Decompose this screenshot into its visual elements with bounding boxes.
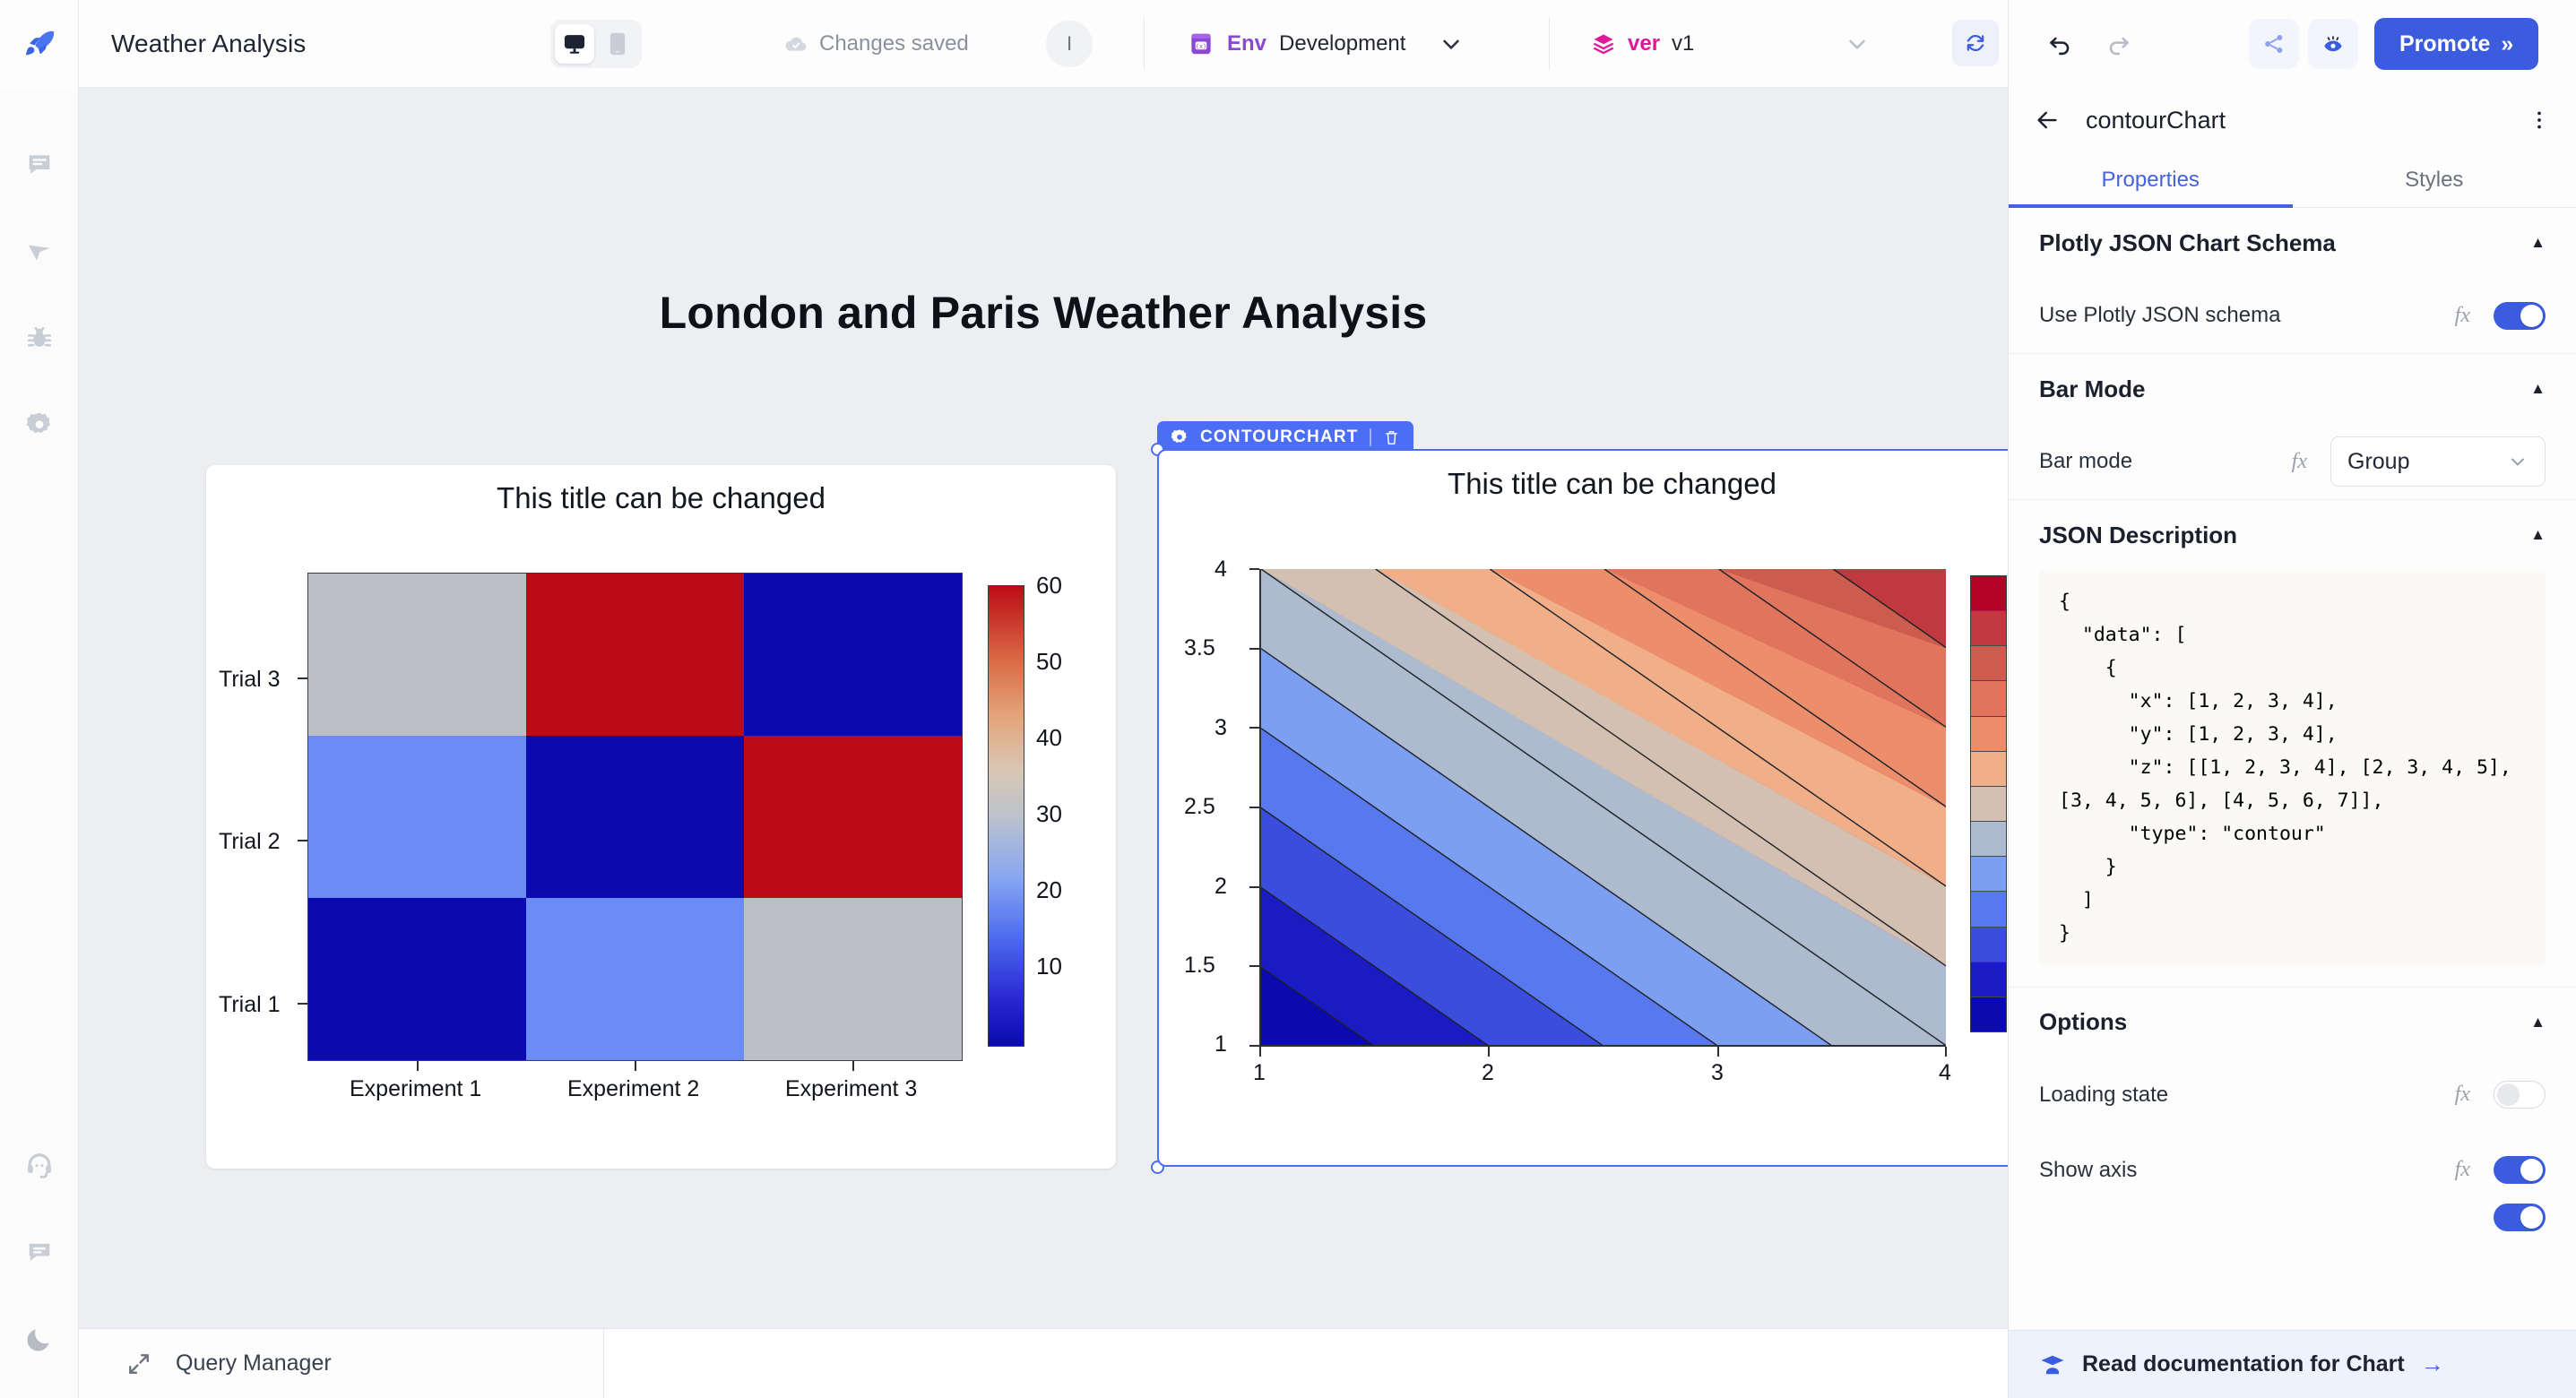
bottom-bar: Query Manager (79, 1328, 2008, 1398)
heatmap-xlabel: Experiment 1 (350, 1076, 481, 1102)
tab-properties-label: Properties (2102, 168, 2200, 193)
colorbar-band (1971, 997, 2006, 1031)
colorbar-band (1971, 752, 2006, 787)
gear-icon (1170, 427, 1189, 447)
section-title: Options (2039, 1008, 2127, 1036)
x-tick (1488, 1047, 1490, 1057)
inspector-panel: contourChart Properties Styles (2008, 88, 2576, 1398)
use-plotly-schema-toggle[interactable] (2494, 302, 2546, 330)
section-header[interactable]: Plotly JSON Chart Schema ▲ (2039, 208, 2546, 278)
y-tick (1249, 727, 1259, 729)
desktop-view-button[interactable] (555, 24, 594, 64)
rocket-icon (20, 24, 59, 64)
divider (1549, 18, 1550, 70)
version-label: ver (1628, 31, 1660, 56)
chevron-down-icon (2507, 451, 2528, 472)
env-label: Env (1227, 31, 1266, 56)
row-label: Loading state (2039, 1083, 2455, 1108)
colorbar-band (1971, 646, 2006, 681)
row-use-plotly-schema: Use Plotly JSON schema fx (2039, 278, 2546, 353)
query-manager-label: Query Manager (176, 1351, 332, 1376)
inspector-header: contourChart (2009, 88, 2576, 152)
colorbar-band (1971, 611, 2006, 646)
moon-icon (24, 1324, 55, 1354)
x-tick (1259, 1047, 1261, 1057)
heatmap-cell (744, 898, 962, 1060)
fx-button[interactable]: fx (2455, 1158, 2470, 1182)
env-variable-icon: (x) (1188, 30, 1215, 57)
colorbar-tick: 50 (1036, 648, 1062, 676)
version-value: v1 (1672, 31, 1694, 56)
desktop-icon (562, 31, 587, 56)
section-json-description: JSON Description ▲ { "data": [ { "x": [1… (2009, 500, 2576, 988)
inspector-content[interactable]: Plotly JSON Chart Schema ▲ Use Plotly JS… (2009, 208, 2576, 1398)
heatmap-cell (744, 574, 962, 736)
promote-label: Promote (2399, 31, 2490, 57)
page-title: London and Paris Weather Analysis (79, 287, 2008, 339)
section-title: JSON Description (2039, 522, 2237, 549)
heatmap-grid (307, 573, 963, 1061)
section-bar-mode: Bar Mode ▲ Bar mode fx Group (2009, 354, 2576, 500)
y-tick (1249, 568, 1259, 570)
query-manager-button[interactable]: Query Manager (79, 1329, 604, 1398)
chevron-up-icon[interactable]: ▲ (2530, 1014, 2546, 1031)
comment-icon (24, 149, 55, 179)
contour-xtick: 4 (1939, 1060, 1951, 1086)
undo-button[interactable] (2036, 20, 2084, 68)
badge-divider (1370, 428, 1371, 446)
left-rail-bottom (0, 1121, 79, 1382)
heatmap-colorbar (988, 585, 1024, 1047)
left-rail (0, 88, 79, 1398)
contour-ytick: 2.5 (1184, 794, 1215, 820)
refresh-icon (1963, 30, 1988, 56)
svg-text:(x): (x) (1196, 43, 1206, 50)
share-button[interactable] (2249, 19, 2299, 69)
redo-button[interactable] (2095, 20, 2143, 68)
contour-xtick: 2 (1482, 1060, 1494, 1086)
graduation-cap-icon (2039, 1351, 2066, 1378)
heatmap-cell (308, 898, 526, 1060)
contour-ytick: 1 (1215, 1031, 1227, 1057)
avatar-initial: I (1067, 32, 1072, 56)
contour-ytick: 2 (1215, 874, 1227, 900)
heatmap-xlabel: Experiment 3 (785, 1076, 917, 1102)
section-header[interactable]: Bar Mode ▲ (2039, 354, 2546, 424)
cloud-check-icon (783, 31, 808, 56)
row-loading-state: Loading state fx (2039, 1057, 2546, 1133)
trash-icon (1382, 428, 1401, 447)
heatmap-widget[interactable]: This title can be changed (206, 465, 1116, 1169)
promote-button[interactable]: Promote » (2374, 18, 2538, 70)
promote-chevrons: » (2501, 31, 2513, 57)
env-value: Development (1279, 31, 1405, 56)
row-label: Use Plotly JSON schema (2039, 303, 2455, 328)
refresh-button[interactable] (1952, 20, 1999, 66)
section-header[interactable]: JSON Description ▲ (2039, 500, 2546, 570)
contour-widget[interactable]: This title can be changed (1157, 449, 2008, 1167)
row-label: Show axis (2039, 1158, 2455, 1183)
section-title: Plotly JSON Chart Schema (2039, 229, 2336, 257)
arrow-right-icon: → (2421, 1351, 2444, 1378)
eye-icon (2321, 31, 2346, 56)
cursor-icon (24, 236, 55, 266)
heatmap-ylabel: Trial 1 (219, 992, 281, 1018)
inspector-tabs: Properties Styles (2009, 152, 2576, 208)
documentation-link[interactable]: Read documentation for Chart → (2009, 1330, 2576, 1398)
canvas-column: London and Paris Weather Analysis This t… (79, 88, 2008, 1398)
row-show-axis: Show axis fx (2039, 1133, 2546, 1208)
fx-button[interactable]: fx (2455, 304, 2470, 328)
divider (1144, 18, 1145, 70)
chevron-up-icon[interactable]: ▲ (2530, 526, 2546, 544)
colorbar-tick: 40 (1036, 724, 1062, 752)
y-tick (1249, 648, 1259, 650)
contour-colorbar (1970, 575, 2007, 1032)
bar-mode-value: Group (2347, 449, 2409, 475)
row-partial (2039, 1208, 2546, 1244)
tab-properties[interactable]: Properties (2009, 152, 2293, 207)
loading-state-toggle[interactable] (2494, 1081, 2546, 1109)
y-tick (1249, 1045, 1259, 1047)
contour-ytick: 3.5 (1184, 635, 1215, 661)
app-canvas[interactable]: London and Paris Weather Analysis This t… (79, 88, 2008, 1328)
sidebar-item-debug[interactable] (0, 294, 79, 381)
chevron-down-icon (1438, 30, 1465, 57)
version-selector[interactable]: ver v1 (1591, 0, 1694, 88)
editor-actions: Promote » (2008, 0, 2576, 88)
contour-xtick: 3 (1711, 1060, 1724, 1086)
colorbar-tick: 10 (1036, 953, 1062, 980)
heatmap-cell (526, 736, 744, 898)
top-bar: Weather Analysis Changes s (0, 0, 2576, 88)
sidebar-item-settings[interactable] (0, 381, 79, 468)
redo-icon (2105, 30, 2133, 58)
contour-region (1259, 569, 1946, 1047)
documentation-label: Read documentation for Chart (2082, 1351, 2405, 1377)
colorbar-band (1971, 892, 2006, 927)
share-icon (2261, 31, 2286, 56)
chevron-up-icon[interactable]: ▲ (2530, 380, 2546, 398)
show-axis-toggle[interactable] (2494, 1156, 2546, 1184)
bug-icon (24, 323, 55, 353)
fx-button[interactable]: fx (2292, 450, 2307, 474)
y-tick (1249, 965, 1259, 967)
section-plotly-schema: Plotly JSON Chart Schema ▲ Use Plotly JS… (2009, 208, 2576, 354)
chevron-up-icon[interactable]: ▲ (2530, 234, 2546, 252)
undo-icon (2045, 30, 2074, 58)
colorbar-band (1971, 717, 2006, 752)
heatmap-cell (526, 574, 744, 736)
x-tick (417, 1061, 419, 1071)
colorbar-tick: 20 (1036, 876, 1062, 904)
contour-xtick: 1 (1253, 1060, 1266, 1086)
app-logo[interactable] (0, 0, 79, 88)
component-name: contourChart (2086, 107, 2503, 134)
preview-button[interactable] (2308, 19, 2358, 69)
chat-bubble-icon (24, 1237, 55, 1267)
section-header[interactable]: Options ▲ (2039, 988, 2546, 1057)
contour-ytick: 1.5 (1184, 953, 1215, 979)
colorbar-band (1971, 822, 2006, 857)
device-toggle-group[interactable] (550, 20, 642, 68)
colorbar-tick: 60 (1036, 572, 1062, 600)
x-tick (1717, 1047, 1719, 1057)
contour-ytick: 4 (1215, 557, 1227, 582)
x-tick (852, 1061, 854, 1071)
contour-ytick: 3 (1215, 715, 1227, 741)
colorbar-band (1971, 787, 2006, 822)
avatar[interactable]: I (1046, 21, 1093, 67)
support-headset-icon (24, 1150, 55, 1180)
more-options-icon[interactable] (2528, 108, 2551, 132)
body: London and Paris Weather Analysis This t… (0, 88, 2576, 1398)
heatmap-cell (526, 898, 744, 1060)
colorbar-band (1971, 576, 2006, 611)
json-description-editor[interactable]: { "data": [ { "x": [1, 2, 3, 4], "y": [1… (2039, 570, 2546, 967)
heatmap-xlabel: Experiment 2 (567, 1076, 699, 1102)
bar-mode-select[interactable]: Group (2330, 436, 2546, 487)
sidebar-item-cursor[interactable] (0, 207, 79, 294)
tab-styles[interactable]: Styles (2293, 152, 2576, 207)
y-tick (1249, 807, 1259, 808)
colorbar-band (1971, 857, 2006, 892)
mobile-view-button[interactable] (598, 24, 637, 64)
heatmap-ylabel: Trial 2 (219, 829, 281, 855)
colorbar-tick: 30 (1036, 800, 1062, 828)
fx-button[interactable]: fx (2455, 1083, 2470, 1107)
save-status: Changes saved (783, 0, 969, 88)
environment-selector[interactable]: (x) Env Development (1188, 0, 1465, 88)
colorbar-band (1971, 962, 2006, 997)
row-bar-mode: Bar mode fx Group (2039, 424, 2546, 499)
x-tick (1945, 1047, 1947, 1057)
sidebar-item-support[interactable] (0, 1121, 79, 1208)
app-title[interactable]: Weather Analysis (111, 30, 306, 58)
selection-badge-label: CONTOURCHART (1200, 427, 1359, 447)
y-tick (1249, 886, 1259, 888)
sidebar-item-theme[interactable] (0, 1295, 79, 1382)
heatmap-cell (308, 736, 526, 898)
x-tick (635, 1061, 636, 1071)
row-label: Bar mode (2039, 449, 2292, 474)
heatmap-title: This title can be changed (206, 465, 1116, 515)
mobile-icon (608, 31, 627, 56)
section-title: Bar Mode (2039, 375, 2145, 403)
y-tick (298, 840, 307, 841)
expand-icon (125, 1351, 152, 1377)
section-options: Options ▲ Loading state fx Show axis fx (2009, 988, 2576, 1244)
y-tick (298, 677, 307, 679)
save-status-text: Changes saved (819, 31, 969, 56)
tab-styles-label: Styles (2405, 168, 2463, 193)
contour-title: This title can be changed (1159, 451, 2008, 501)
sidebar-item-comments[interactable] (0, 120, 79, 207)
partial-toggle[interactable] (2494, 1204, 2546, 1231)
gear-icon (24, 410, 55, 440)
sidebar-item-chat[interactable] (0, 1208, 79, 1295)
back-arrow-icon[interactable] (2034, 107, 2061, 134)
layers-icon (1591, 31, 1616, 56)
chevron-down-icon (1844, 30, 1871, 57)
colorbar-band (1971, 681, 2006, 716)
y-tick (298, 1003, 307, 1005)
heatmap-cell (744, 736, 962, 898)
heatmap-ylabel: Trial 3 (219, 667, 281, 693)
contour-band-overlay (1261, 569, 1946, 1047)
app-root: Weather Analysis Changes s (0, 0, 2576, 1398)
heatmap-cell (308, 574, 526, 736)
colorbar-band (1971, 928, 2006, 962)
